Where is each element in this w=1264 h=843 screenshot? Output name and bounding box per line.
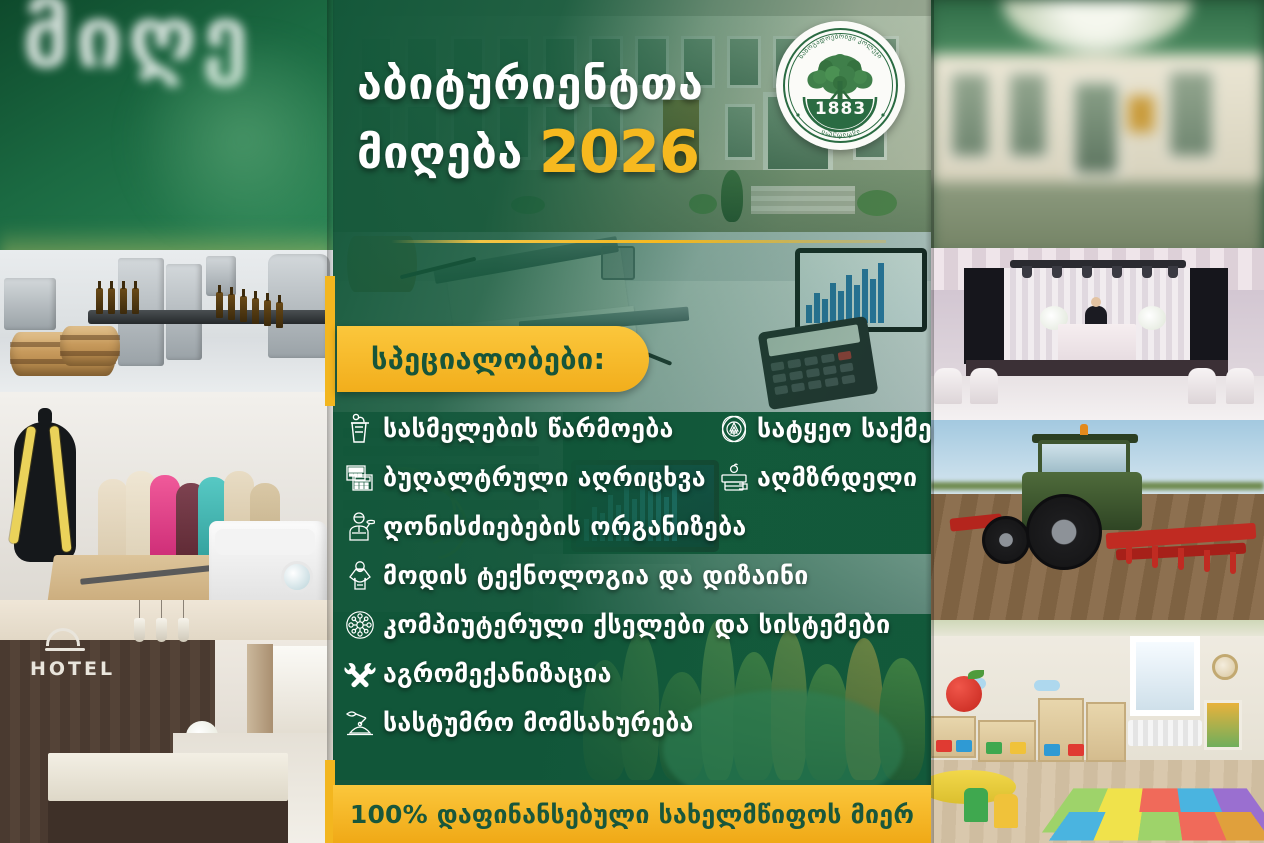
specializations-heading-label: სპეციალობები: (371, 342, 605, 376)
reception-desk-base (48, 797, 288, 843)
spec-item-computer-networks[interactable]: კომპიუტერული ქსელები და სისტემები (337, 600, 931, 649)
spec-item-fashion-design[interactable]: მოდის ტექნოლოგია და დიზაინი (337, 551, 931, 600)
building-ground (930, 182, 1264, 258)
toy-shelf (978, 720, 1036, 762)
photo-kindergarten-classroom (930, 620, 1264, 843)
wall-poster (1204, 700, 1242, 750)
title-line-2: მიღება (357, 126, 523, 179)
gold-divider (391, 240, 886, 243)
left-photo-column: მიღე (0, 0, 333, 843)
door-plaque (1128, 96, 1154, 132)
spec-label: აგრომექანიზაცია (383, 659, 612, 688)
title-line-2-row: მიღება2026 (357, 113, 777, 191)
photo-banquet-hall (930, 248, 1264, 424)
spec-label: აღმზრდელი (757, 463, 917, 492)
network-nodes-icon (337, 605, 383, 645)
toy-shelf (1086, 702, 1126, 762)
spec-label: კომპიუტერული ქსელები და სისტემები (383, 610, 890, 639)
hotel-sign-text: HOTEL (30, 658, 115, 680)
fashion-dress-icon (337, 556, 383, 596)
photo-textile-studio (0, 392, 333, 617)
photo-tractor-field (930, 420, 1264, 626)
tractor-rear-wheel (1026, 494, 1102, 570)
apple-cutout (946, 676, 982, 712)
title-line-1: აბიტურიენტთა (357, 54, 777, 113)
admission-year: 2026 (539, 117, 699, 186)
spec-label: სასმელების წარმოება (383, 414, 674, 443)
forestry-emblem-icon (711, 409, 757, 449)
calculator-ledger-icon (337, 458, 383, 498)
stage-light-bar (1010, 260, 1186, 268)
cocktail-glass-icon (337, 409, 383, 449)
building-door (1070, 78, 1122, 178)
spec-label: მოდის ტექნოლოგია და დიზაინი (383, 561, 809, 590)
spec-item-event-organization[interactable]: ღონისძიებების ორგანიზება (337, 502, 931, 551)
spec-item-educator[interactable]: აღმზრდელი (711, 453, 935, 502)
stage-flowers-right (1138, 306, 1166, 330)
specializations-list-right: სატყეო საქმე აღმზრდელი (711, 404, 935, 502)
radiator (1128, 720, 1202, 746)
spec-label: სასტუმრო მომსახურება (383, 708, 694, 737)
photo-blurred-building (930, 0, 1264, 258)
play-mat-row2 (1049, 812, 1264, 841)
specializations-list-left: სასმელების წარმოება (337, 404, 931, 747)
spec-label: სატყეო საქმე (757, 414, 932, 443)
spec-label: ღონისძიებების ორგანიზება (383, 512, 746, 541)
reception-desk (48, 753, 288, 801)
college-emblem: საზოგადოებრივი კოლეჯი აგრარული 1883 (776, 21, 905, 150)
wall-clock-icon (1212, 654, 1238, 680)
right-photo-column (930, 0, 1264, 843)
photo-bottling-plant (0, 250, 333, 400)
photo-blurred-green-banner: მიღე (0, 0, 333, 268)
funding-banner-text: 100% დაფინანსებული სახელმწიფოს მიერ (350, 800, 914, 829)
photo-hotel-reception: HOTEL (0, 600, 333, 843)
side-unit (4, 278, 56, 330)
emblem-tree-icon: საზოგადოებრივი კოლეჯი აგრარული (776, 21, 905, 150)
poster-title: აბიტურიენტთა მიღება2026 (357, 54, 777, 191)
food-cloche-icon (337, 703, 383, 743)
classroom-window (1130, 636, 1200, 716)
teacher-desk-icon (711, 458, 757, 498)
funding-banner: 100% დაფინანსებული სახელმწიფოს მიერ (333, 785, 931, 843)
center-foreground: აბიტურიენტთა მიღება2026 საზოგადოებრივი კ… (333, 0, 931, 843)
spec-item-forestry[interactable]: სატყეო საქმე (711, 404, 935, 453)
admissions-poster: მიღე (0, 0, 1264, 843)
spec-label: ბუღალტრული აღრიცხვა (383, 463, 706, 492)
specializations-heading-pill: სპეციალობები: (337, 326, 649, 392)
kids-chair (994, 794, 1018, 828)
emblem-founding-year: 1883 (776, 99, 905, 119)
tractor-front-wheel (982, 516, 1030, 564)
kids-chair (964, 788, 988, 822)
spec-item-agromechanization[interactable]: აგრომექანიზაცია (337, 649, 931, 698)
spec-item-hotel-service[interactable]: სასტუმრო მომსახურება (337, 698, 931, 747)
classroom-ceiling (930, 620, 1264, 636)
head-table (1058, 324, 1136, 364)
waiter-service-icon (337, 507, 383, 547)
wrench-screwdriver-icon (337, 654, 383, 694)
tractor-beacon (1080, 424, 1088, 435)
wine-barrel-2 (60, 326, 120, 366)
